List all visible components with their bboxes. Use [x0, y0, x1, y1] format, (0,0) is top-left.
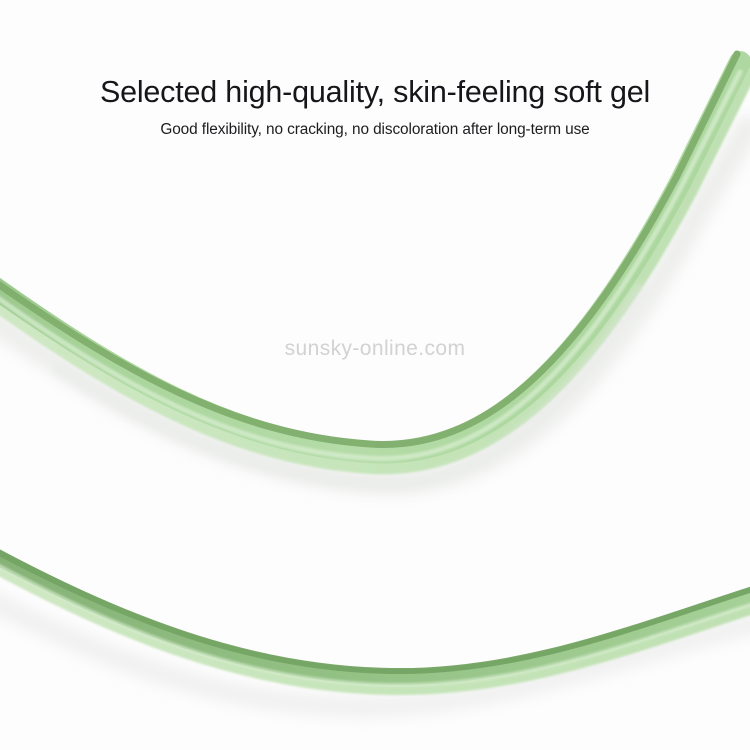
watermark-label: sunsky-online.com	[0, 337, 750, 361]
page-title: Selected high-quality, skin-feeling soft…	[0, 0, 750, 108]
product-image-canvas: Selected high-quality, skin-feeling soft…	[0, 0, 750, 750]
page-subtitle: Good flexibility, no cracking, no discol…	[0, 108, 750, 139]
marketing-copy: Selected high-quality, skin-feeling soft…	[0, 0, 750, 139]
